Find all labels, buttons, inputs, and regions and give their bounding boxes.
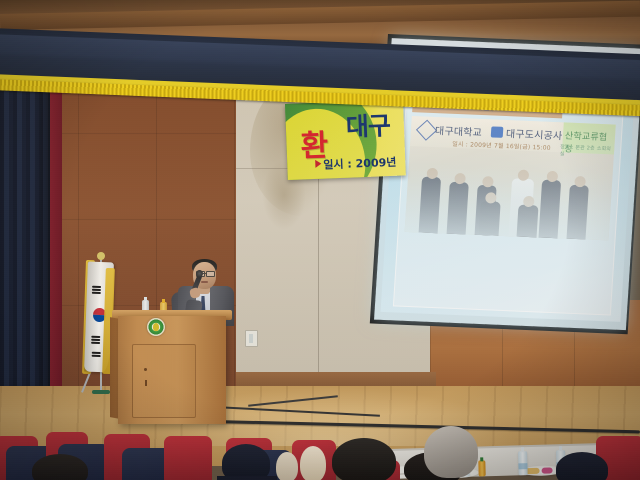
- stage-curtain-navy: [0, 62, 50, 392]
- glasses-icon: [206, 271, 215, 277]
- flag-finial: [97, 252, 105, 260]
- banner-word-city: 대구: [345, 106, 390, 144]
- audience-person-hand: [276, 452, 298, 480]
- banner-date-line: 일시 : 2009년: [323, 154, 397, 173]
- audience-person: [32, 454, 88, 480]
- audience-person-cap: [222, 444, 270, 480]
- microphone-head-icon: [196, 270, 203, 277]
- flag-base: [92, 390, 110, 394]
- audience-person-grey-hair: [424, 426, 478, 478]
- auditorium-scene: 산학교류협정체결 산학교류협정체결(2009.07.16) 대구대학교 대구도시…: [0, 0, 640, 480]
- light-switch[interactable]: [245, 330, 258, 347]
- audience-person-cap: [556, 452, 608, 480]
- welcome-banner: 환 대구 일시 : 2009년: [285, 99, 406, 179]
- table-water-bottle: [518, 451, 528, 475]
- podium-front-panel: [132, 344, 196, 418]
- speaker-mouth: [201, 281, 208, 283]
- glasses-bridge: [203, 273, 206, 274]
- table-juice-bottle: [478, 460, 485, 476]
- auditorium-seat[interactable]: [164, 436, 212, 480]
- audience-person: [300, 446, 326, 480]
- banner-bullet-icon: [315, 160, 321, 168]
- podium-knob: [144, 368, 147, 371]
- institution-emblem-icon: [147, 318, 165, 336]
- audience-person: [332, 438, 396, 480]
- podium-latch: [145, 380, 147, 386]
